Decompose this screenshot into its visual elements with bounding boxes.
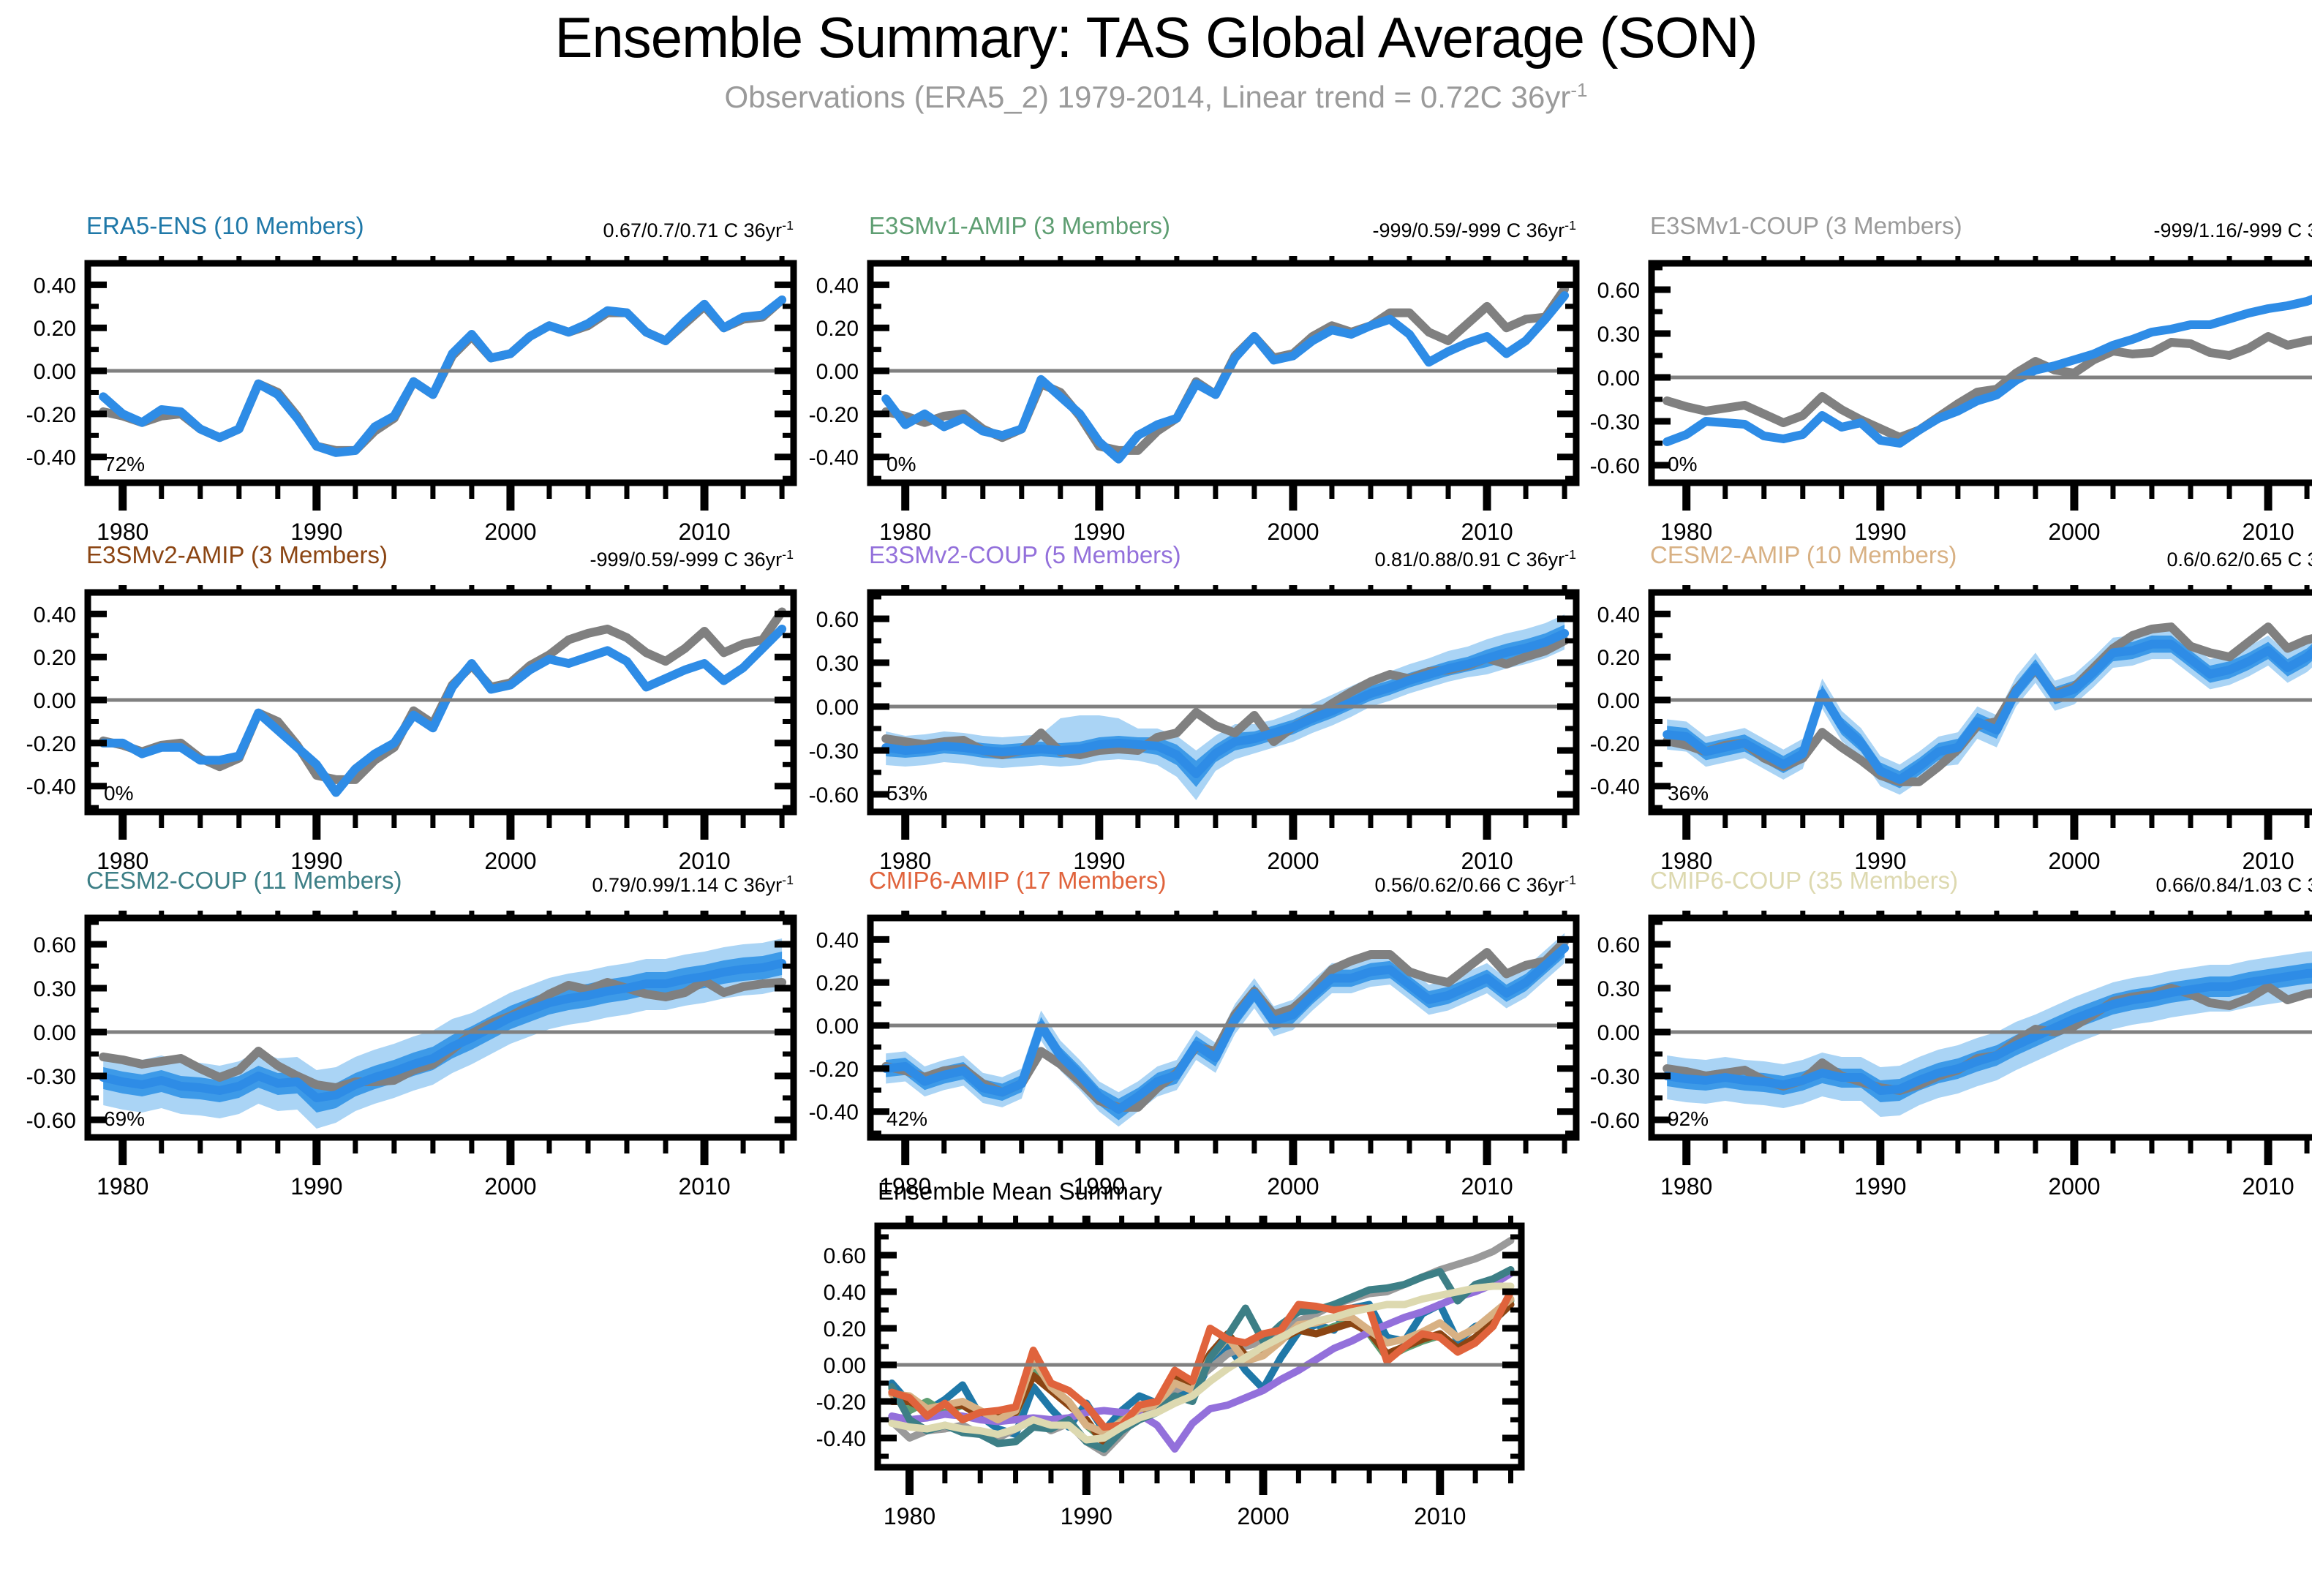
panel-e3smv2-coup: E3SMv2-COUP (5 Members)0.81/0.88/0.91 C … [783,541,1679,892]
panel-percent-label: 0% [1668,453,1697,475]
plot-frame [1652,918,2312,1137]
y-axis-tick-label: -0.20 [1590,732,1640,756]
y-axis-tick-label: -0.20 [809,403,859,427]
panel-title-cesm2-amip: CESM2-AMIP (10 Members) [1650,541,1957,569]
plot-frame [870,592,1576,812]
y-axis-tick-label: 0.00 [1597,366,1640,391]
y-axis-tick-label: 0.00 [1597,689,1640,713]
panel-percent-label: 92% [1668,1107,1709,1130]
y-axis-tick-label: -0.40 [26,446,76,470]
y-axis-tick-label: -0.30 [1590,1065,1640,1089]
panel-title-e3smv1-coup: E3SMv1-COUP (3 Members) [1650,212,1962,240]
x-axis-tick-label: 2000 [2048,1173,2100,1200]
panel-era5-ens: ERA5-ENS (10 Members)0.67/0.7/0.71 C 36y… [0,212,896,563]
ensemble-mean-line [1667,287,2312,443]
ensemble-mean-line [103,300,782,453]
panel-trend-cmip6-coup: 0.66/0.84/1.03 C 36yr-1 [1977,873,2312,897]
y-axis-tick-label: -0.40 [26,775,76,799]
y-axis-tick-label: 0.20 [34,317,76,341]
y-axis-tick-label: 0.00 [816,360,859,384]
panel-cesm2-amip: CESM2-AMIP (10 Members)0.6/0.62/0.65 C 3… [1564,541,2312,892]
panel-trend-value: 0.81/0.88/0.91 C 36yr [1374,549,1564,571]
panel-ensemble-mean-summary: Ensemble Mean Summary0.600.400.200.00-0.… [783,1178,1631,1565]
panel-trend-cmip6-amip: 0.56/0.62/0.66 C 36yr-1 [1196,873,1576,897]
panel-title-e3smv1-amip: E3SMv1-AMIP (3 Members) [869,212,1170,240]
y-axis-tick-label: -0.30 [809,739,859,764]
y-axis-tick-label: -0.40 [809,446,859,470]
y-axis-tick-label: 0.60 [816,608,859,632]
panel-title-cmip6-amip: CMIP6-AMIP (17 Members) [869,867,1166,895]
y-axis-tick-label: 0.20 [816,317,859,341]
panel-trend-value: 0.66/0.84/1.03 C 36yr [2155,874,2312,896]
y-axis-tick-label: 0.40 [816,928,859,952]
x-axis-tick-label: 2010 [1414,1503,1466,1529]
x-axis-tick-label: 2000 [484,1173,536,1200]
y-axis-tick-label: 0.40 [816,274,859,298]
figure-root: Ensemble Summary: TAS Global Average (SO… [0,0,2312,1531]
y-axis-tick-label: 0.60 [824,1244,866,1268]
x-axis-tick-label: 2010 [678,1173,730,1200]
y-axis-tick-label: 0.20 [816,971,859,995]
y-axis-tick-label: 0.20 [1597,646,1640,670]
plot-frame [1652,592,2312,812]
panel-cmip6-coup: CMIP6-COUP (35 Members)0.66/0.84/1.03 C … [1564,867,2312,1218]
y-axis-tick-label: 0.30 [816,652,859,676]
panel-title-cesm2-coup: CESM2-COUP (11 Members) [86,867,402,895]
x-axis-tick-label: 2000 [1237,1503,1289,1529]
panel-trend-e3smv2-amip: -999/0.59/-999 C 36yr-1 [413,547,794,571]
panel-trend-value: 0.67/0.7/0.71 C 36yr [603,219,782,241]
y-axis-tick-label: 0.00 [816,1015,859,1039]
y-axis-tick-label: -0.20 [26,732,76,756]
panel-percent-label: 72% [104,453,145,475]
panel-trend-value: 0.79/0.99/1.14 C 36yr [592,874,782,896]
y-axis-tick-label: 0.30 [34,977,76,1001]
x-axis-tick-label: 1990 [1854,1173,1906,1200]
panel-trend-value: 0.56/0.62/0.66 C 36yr [1374,874,1564,896]
panel-percent-label: 53% [886,782,927,805]
plot-cmip6-coup: 0.600.300.00-0.30-0.60198019902000201092… [1564,911,2312,1247]
x-axis-tick-label: 2010 [2242,1173,2294,1200]
y-axis-tick-label: 0.00 [824,1354,866,1378]
y-axis-tick-label: 0.30 [1597,977,1640,1001]
y-axis-tick-label: -0.20 [26,403,76,427]
panel-percent-label: 36% [1668,782,1709,805]
panel-trend-value: 0.6/0.62/0.65 C 36yr [2166,549,2312,571]
y-axis-tick-label: 0.20 [34,646,76,670]
y-axis-tick-label: -0.40 [816,1427,866,1451]
y-axis-tick-label: 0.00 [34,360,76,384]
panel-trend-e3smv1-coup: -999/1.16/-999 C 36yr-1 [1977,218,2312,242]
x-axis-tick-label: 1980 [884,1503,935,1529]
y-axis-tick-label: -0.30 [1590,410,1640,434]
panel-trend-value: -999/1.16/-999 C 36yr [2153,219,2312,241]
y-axis-tick-label: 0.00 [34,689,76,713]
y-axis-tick-label: 0.60 [34,933,76,957]
panel-title-e3smv2-amip: E3SMv2-AMIP (3 Members) [86,541,388,569]
panel-percent-label: 42% [886,1107,927,1130]
x-axis-tick-label: 1990 [1061,1503,1112,1529]
y-axis-tick-label: -0.60 [1590,454,1640,478]
y-axis-tick-label: 0.30 [1597,323,1640,347]
panel-trend-cesm2-amip: 0.6/0.62/0.65 C 36yr-1 [1977,547,2312,571]
panel-trend-value: -999/0.59/-999 C 36yr [590,549,782,571]
x-axis-tick-label: 1990 [290,1173,342,1200]
plot-ensemble-mean-summary: 0.600.400.200.00-0.20-0.4019801990200020… [783,1216,1631,1596]
figure-subtitle-exponent: -1 [1570,79,1587,101]
y-axis-tick-label: -0.40 [1590,775,1640,799]
y-axis-tick-label: -0.40 [809,1101,859,1125]
y-axis-tick-label: 0.40 [34,274,76,298]
panel-percent-label: 0% [886,453,916,475]
panel-cesm2-coup: CESM2-COUP (11 Members)0.79/0.99/1.14 C … [0,867,896,1218]
y-axis-tick-label: 0.00 [1597,1021,1640,1045]
plot-cesm2-coup: 0.600.300.00-0.30-0.60198019902000201069… [0,911,896,1247]
figure-title: Ensemble Summary: TAS Global Average (SO… [0,4,2312,71]
plot-frame [1652,263,2312,483]
x-axis-tick-label: 1980 [97,1173,148,1200]
x-axis-tick-label: 1980 [1660,1173,1712,1200]
observation-line [103,611,782,779]
y-axis-tick-label: 0.60 [1597,933,1640,957]
panel-e3smv1-amip: E3SMv1-AMIP (3 Members)-999/0.59/-999 C … [783,212,1679,563]
observation-line [1667,331,2312,437]
panel-e3smv1-coup: E3SMv1-COUP (3 Members)-999/1.16/-999 C … [1564,212,2312,563]
y-axis-tick-label: 0.00 [816,696,859,720]
panel-e3smv2-amip: E3SMv2-AMIP (3 Members)-999/0.59/-999 C … [0,541,896,892]
y-axis-tick-label: 0.40 [1597,603,1640,627]
panel-trend-cesm2-coup: 0.79/0.99/1.14 C 36yr-1 [413,873,794,897]
summary-panel-title: Ensemble Mean Summary [878,1178,1162,1205]
panel-title-e3smv2-coup: E3SMv2-COUP (5 Members) [869,541,1181,569]
ensemble-mean-line [886,296,1564,459]
panel-cmip6-amip: CMIP6-AMIP (17 Members)0.56/0.62/0.66 C … [783,867,1679,1218]
y-axis-tick-label: -0.20 [809,1058,859,1082]
panel-title-era5-ens: ERA5-ENS (10 Members) [86,212,364,240]
panel-percent-label: 0% [104,782,133,805]
y-axis-tick-label: 0.60 [1597,279,1640,303]
y-axis-tick-label: -0.60 [26,1109,76,1133]
y-axis-tick-label: 0.00 [34,1021,76,1045]
y-axis-tick-label: -0.20 [816,1390,866,1415]
panel-trend-e3smv1-amip: -999/0.59/-999 C 36yr-1 [1196,218,1576,242]
y-axis-tick-label: -0.60 [1590,1109,1640,1133]
panel-trend-e3smv2-coup: 0.81/0.88/0.91 C 36yr-1 [1196,547,1576,571]
figure-subtitle: Observations (ERA5_2) 1979-2014, Linear … [0,79,2312,115]
y-axis-tick-label: -0.30 [26,1065,76,1089]
panel-title-cmip6-coup: CMIP6-COUP (35 Members) [1650,867,1958,895]
y-axis-tick-label: -0.60 [809,783,859,808]
y-axis-tick-label: 0.40 [34,603,76,627]
panel-trend-value: -999/0.59/-999 C 36yr [1372,219,1564,241]
panel-percent-label: 69% [104,1107,145,1130]
y-axis-tick-label: 0.40 [824,1281,866,1305]
panel-trend-era5-ens: 0.67/0.7/0.71 C 36yr-1 [413,218,794,242]
y-axis-tick-label: 0.20 [824,1317,866,1341]
figure-subtitle-text: Observations (ERA5_2) 1979-2014, Linear … [724,80,1570,114]
